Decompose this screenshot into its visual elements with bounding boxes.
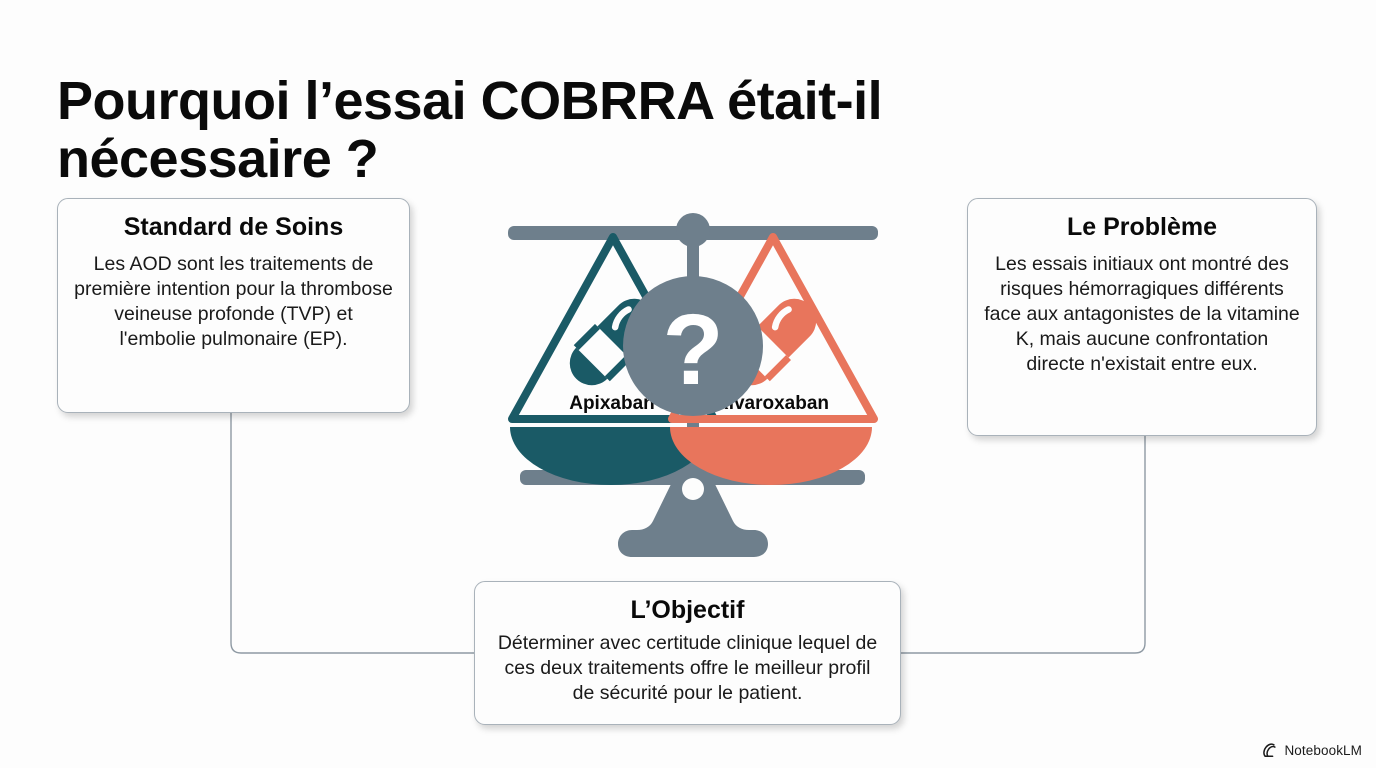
notebooklm-logo: NotebookLM	[1262, 743, 1362, 758]
card-standard-de-soins: Standard de Soins Les AOD sont les trait…	[57, 198, 410, 413]
card-le-probleme: Le Problème Les essais initiaux ont mont…	[967, 198, 1317, 436]
question-mark-glyph: ?	[662, 294, 723, 406]
card-probleme-title: Le Problème	[984, 213, 1300, 242]
page-title: Pourquoi l’essai COBRRA était-il nécessa…	[57, 72, 957, 189]
card-lobjectif: L’Objectif Déterminer avec certitude cli…	[474, 581, 901, 725]
card-standard-body: Les AOD sont les traitements de première…	[74, 252, 393, 352]
card-objectif-body: Déterminer avec certitude clinique leque…	[491, 631, 884, 706]
scale-pivot-knob	[676, 213, 710, 247]
card-probleme-body: Les essais initiaux ont montré des risqu…	[984, 252, 1300, 377]
pan-apixaban-label: Apixaban	[569, 393, 655, 414]
slide-canvas: Pourquoi l’essai COBRRA était-il nécessa…	[0, 0, 1376, 768]
question-mark-badge: ?	[623, 276, 763, 416]
scale-fulcrum-hole	[682, 478, 704, 500]
card-standard-title: Standard de Soins	[74, 213, 393, 242]
notebooklm-spiral-icon	[1262, 743, 1279, 758]
card-objectif-title: L’Objectif	[491, 596, 884, 625]
balance-scale-illustration: Apixaban Rivaroxaban ?	[420, 212, 965, 560]
notebooklm-logo-text: NotebookLM	[1284, 743, 1362, 758]
